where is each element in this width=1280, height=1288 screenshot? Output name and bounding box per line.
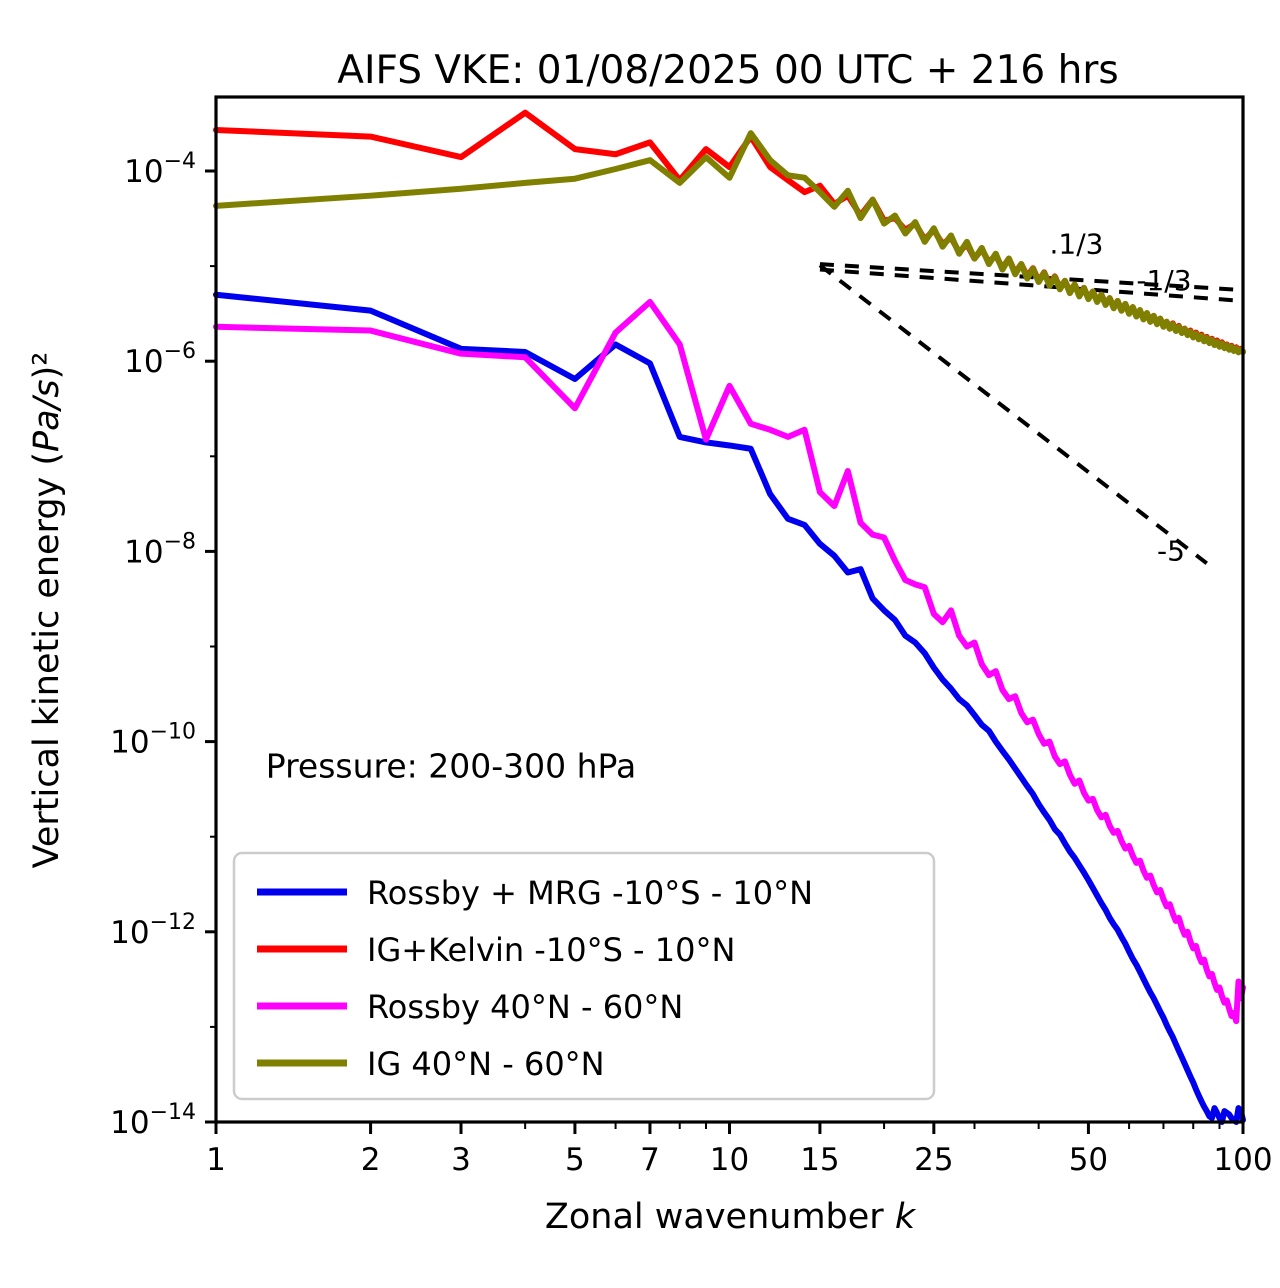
pressure-note: Pressure: 200-300 hPa (266, 746, 636, 785)
x-tick-label: 5 (565, 1142, 585, 1178)
x-tick-label: 100 (1213, 1142, 1272, 1178)
ref-slope-minus5 (820, 265, 1207, 563)
legend-label-0: Rossby + MRG -10°S - 10°N (367, 874, 813, 912)
x-axis-label-italic: k (895, 1197, 917, 1237)
y-axis-ticks: 10−410−610−810−1010−1210−14 (110, 149, 216, 1141)
legend: Rossby + MRG -10°S - 10°NIG+Kelvin -10°S… (234, 853, 934, 1099)
slope-label-upper: .1/3 (1050, 228, 1104, 261)
y-tick-label: 10−4 (124, 149, 196, 190)
page-title: AIFS VKE: 01/08/2025 00 UTC + 216 hrs (337, 48, 1118, 93)
y-axis-label-italic: Pa/s (27, 379, 67, 452)
x-axis-ticks: 1235710152550100 (206, 1122, 1272, 1178)
slope-label-minus5: -5 (1157, 535, 1185, 568)
x-tick-label: 3 (451, 1142, 471, 1178)
x-tick-label: 15 (800, 1142, 839, 1178)
x-tick-label: 50 (1069, 1142, 1108, 1178)
x-axis-label: Zonal wavenumber k (545, 1197, 917, 1237)
slope-label-lower: -1/3 (1136, 264, 1191, 297)
svg-text:Vertical kinetic energy (Pa/s): Vertical kinetic energy (Pa/s)² (27, 352, 67, 869)
legend-label-2: Rossby 40°N - 60°N (367, 988, 683, 1026)
legend-label-3: IG 40°N - 60°N (367, 1045, 605, 1083)
chart-svg: AIFS VKE: 01/08/2025 00 UTC + 216 hrs Ve… (0, 0, 1280, 1288)
y-tick-label: 10−14 (110, 1100, 196, 1141)
x-tick-label: 2 (361, 1142, 381, 1178)
y-tick-label: 10−6 (124, 339, 196, 380)
annotations-group: .1/3-1/3-5Pressure: 200-300 hPa (266, 228, 1192, 786)
y-axis-label-main: Vertical kinetic energy ( (27, 452, 67, 868)
y-axis-label-tail: )² (27, 352, 67, 380)
x-tick-label: 25 (914, 1142, 953, 1178)
x-tick-label: 7 (640, 1142, 660, 1178)
x-tick-label: 1 (206, 1142, 226, 1178)
y-tick-label: 10−10 (110, 720, 196, 761)
y-tick-label: 10−8 (124, 529, 196, 570)
x-tick-label: 10 (710, 1142, 749, 1178)
y-tick-label: 10−12 (110, 910, 196, 951)
y-axis-label: Vertical kinetic energy (Pa/s)² (27, 352, 67, 869)
x-axis-label-main: Zonal wavenumber (545, 1197, 895, 1237)
reference-lines-group (820, 264, 1243, 563)
figure-canvas: AIFS VKE: 01/08/2025 00 UTC + 216 hrs Ve… (0, 0, 1280, 1288)
svg-text:Zonal wavenumber k: Zonal wavenumber k (545, 1197, 917, 1237)
legend-label-1: IG+Kelvin -10°S - 10°N (367, 931, 735, 969)
